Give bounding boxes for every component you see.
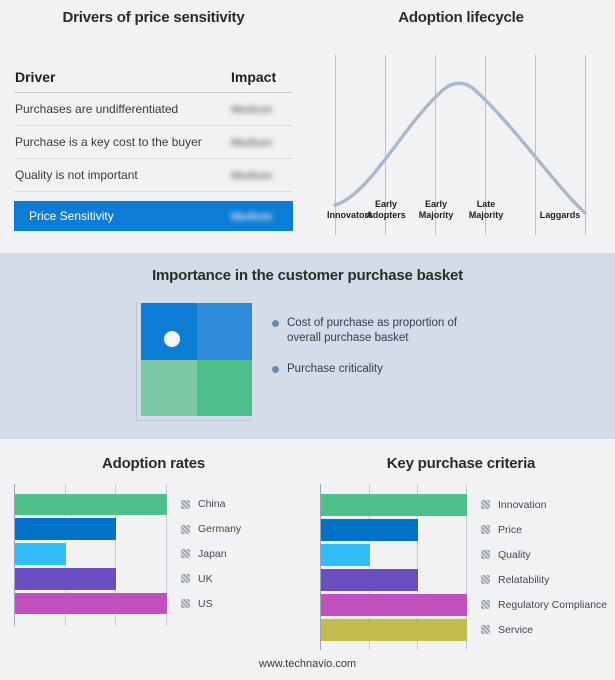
bar-row (15, 542, 167, 567)
legend-item-label: Quality (498, 549, 531, 561)
bar-row (321, 617, 467, 642)
legend-item-label: Relatability (498, 574, 549, 586)
segment-label-laggards: Laggards (527, 210, 593, 221)
quadrant-bottom-left (141, 360, 197, 417)
impact-value-text: Medium (231, 170, 273, 182)
legend-swatch-icon (181, 500, 190, 509)
legend-item: Cost of purchase as proportion of overal… (272, 316, 572, 346)
legend-item: Service (481, 617, 607, 642)
legend-item-label: Germany (198, 523, 241, 535)
legend-item-label: Service (498, 624, 533, 636)
legend-item-label: China (198, 498, 225, 510)
adoption-rates-plot (14, 484, 167, 626)
bar-uk (15, 568, 116, 590)
impact-value: Medium (231, 209, 293, 223)
legend-swatch-icon (181, 574, 190, 583)
adoption-lifecycle-panel: Adoption lifecycle Innovators Early Adop… (307, 0, 615, 253)
bullet-dot-icon (272, 320, 279, 327)
bar-row (15, 492, 167, 517)
legend-item-label: UK (198, 573, 213, 585)
legend-item: Germany (181, 517, 241, 542)
bar-regulatory-compliance (321, 594, 467, 616)
key-purchase-criteria-legend: InnovationPriceQualityRelatabilityRegula… (481, 492, 607, 650)
bars-layer (321, 492, 467, 642)
quadrant-bottom-right (197, 360, 253, 417)
position-marker-dot-icon (164, 331, 180, 347)
highlighted-row-price-sensitivity: Price Sensitivity Medium (14, 201, 293, 231)
legend-item-label: Price (498, 524, 522, 536)
legend-item: Regulatory Compliance (481, 592, 607, 617)
basket-panel-title: Importance in the customer purchase bask… (0, 267, 615, 284)
driver-label: Quality is not important (14, 168, 231, 182)
drivers-table: Driver Impact Purchases are undifferenti… (14, 62, 293, 231)
legend-item-label: Japan (198, 548, 227, 560)
bar-row (321, 567, 467, 592)
segment-label-late-majority: Late Majority (461, 199, 511, 221)
legend-swatch-icon (181, 599, 190, 608)
legend-swatch-icon (481, 575, 490, 584)
table-row: Purchases are undifferentiated Medium (14, 93, 293, 126)
quadrant-top-right (197, 303, 253, 360)
driver-label: Price Sensitivity (28, 209, 231, 223)
table-row: Purchase is a key cost to the buyer Medi… (14, 126, 293, 159)
legend-item-label: Innovation (498, 499, 546, 511)
legend-item-label: Regulatory Compliance (498, 599, 607, 611)
legend-item: Purchase criticality (272, 362, 572, 377)
segment-label-early-majority: Early Majority (411, 199, 461, 221)
footer-url: www.technavio.com (0, 658, 615, 670)
legend-swatch-icon (481, 625, 490, 634)
legend-item-label: US (198, 598, 213, 610)
drivers-of-price-sensitivity-panel: Drivers of price sensitivity Driver Impa… (0, 0, 307, 253)
key-purchase-criteria-plot (320, 484, 467, 650)
bars-layer (15, 492, 167, 616)
table-header-row: Driver Impact (14, 62, 293, 93)
top-section: Drivers of price sensitivity Driver Impa… (0, 0, 615, 253)
legend-item: China (181, 492, 241, 517)
legend-item-label: Cost of purchase as proportion of overal… (287, 316, 492, 346)
impact-value-text: Medium (231, 137, 273, 149)
legend-item: UK (181, 566, 241, 591)
bar-japan (15, 543, 66, 565)
bar-row (15, 517, 167, 542)
bullet-dot-icon (272, 366, 279, 373)
adoption-lifecycle-chart: Innovators Early Adopters Early Majority… (325, 55, 597, 235)
impact-value: Medium (231, 135, 293, 149)
bar-row (321, 592, 467, 617)
bar-china (15, 494, 167, 516)
impact-value: Medium (231, 102, 293, 116)
legend-swatch-icon (181, 525, 190, 534)
bar-row (15, 566, 167, 591)
legend-swatch-icon (481, 500, 490, 509)
column-header-driver: Driver (14, 69, 231, 85)
legend-item: Quality (481, 542, 607, 567)
segment-label-early-adopters: Early Adopters (361, 199, 411, 221)
bar-row (321, 542, 467, 567)
adoption-rates-panel: Adoption rates ChinaGermanyJapanUKUS (0, 439, 307, 680)
legend-swatch-icon (481, 525, 490, 534)
purchase-basket-section: Importance in the customer purchase bask… (0, 253, 615, 439)
key-purchase-criteria-chart: InnovationPriceQualityRelatabilityRegula… (320, 484, 607, 650)
bell-curve-path (335, 83, 585, 213)
legend-swatch-icon (181, 549, 190, 558)
quadrant-matrix (141, 303, 252, 416)
bar-row (321, 517, 467, 542)
legend-item: US (181, 591, 241, 616)
bar-quality (321, 544, 370, 566)
key-purchase-criteria-title: Key purchase criteria (307, 455, 615, 472)
bar-us (15, 593, 167, 615)
bar-row (15, 591, 167, 616)
impact-value-text: Medium (231, 211, 273, 223)
bar-germany (15, 518, 116, 540)
legend-item: Price (481, 517, 607, 542)
drivers-panel-title: Drivers of price sensitivity (0, 9, 307, 26)
impact-value: Medium (231, 168, 293, 182)
column-header-impact: Impact (231, 69, 293, 85)
bar-relatability (321, 569, 418, 591)
basket-legend: Cost of purchase as proportion of overal… (272, 316, 572, 393)
legend-item: Relatability (481, 567, 607, 592)
table-row: Quality is not important Medium (14, 159, 293, 192)
quadrant-matrix-frame (136, 303, 252, 421)
bar-service (321, 619, 467, 641)
legend-swatch-icon (481, 550, 490, 559)
legend-item: Japan (181, 542, 241, 567)
adoption-rates-legend: ChinaGermanyJapanUKUS (181, 492, 241, 626)
bar-innovation (321, 494, 467, 516)
lifecycle-panel-title: Adoption lifecycle (307, 9, 615, 26)
bar-price (321, 519, 418, 541)
bar-row (321, 492, 467, 517)
bottom-section: Adoption rates ChinaGermanyJapanUKUS Key… (0, 439, 615, 680)
legend-item-label: Purchase criticality (287, 362, 383, 377)
legend-item: Innovation (481, 492, 607, 517)
adoption-rates-title: Adoption rates (0, 455, 307, 472)
legend-swatch-icon (481, 600, 490, 609)
driver-label: Purchases are undifferentiated (14, 102, 231, 116)
adoption-rates-chart: ChinaGermanyJapanUKUS (14, 484, 241, 626)
driver-label: Purchase is a key cost to the buyer (14, 135, 231, 149)
key-purchase-criteria-panel: Key purchase criteria InnovationPriceQua… (307, 439, 615, 680)
impact-value-text: Medium (231, 104, 273, 116)
